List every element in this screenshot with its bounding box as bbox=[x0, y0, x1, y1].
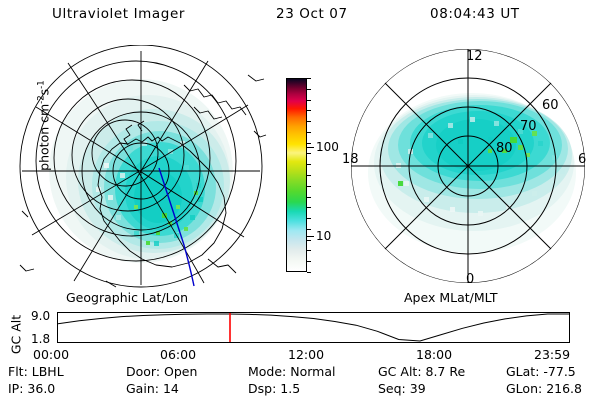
status-label: GC Alt: bbox=[378, 364, 426, 379]
status-value: 14 bbox=[163, 381, 179, 396]
status-row: Flt: LBHLDoor: OpenMode: NormalGC Alt: 8… bbox=[8, 364, 596, 381]
status-value: 8.7 Re bbox=[426, 364, 466, 379]
orbit-alt-min-label: 1.8 bbox=[31, 332, 50, 346]
time-tick-0: 00:00 bbox=[33, 347, 69, 362]
status-value: Open bbox=[164, 364, 197, 379]
status-table: Flt: LBHLDoor: OpenMode: NormalGC Alt: 8… bbox=[8, 364, 596, 398]
mlt-spokes bbox=[351, 49, 585, 283]
status-row: IP: 36.0Gain: 14Dsp: 1.5Seq: 39GLon: 216… bbox=[8, 381, 596, 398]
status-value: 39 bbox=[410, 381, 426, 396]
status-cell-flt: Flt: LBHL bbox=[8, 364, 126, 381]
mlt-label-6: 6 bbox=[578, 152, 586, 167]
right-panel-caption: Apex MLat/MLT bbox=[404, 290, 498, 305]
status-cell-mode: Mode: Normal bbox=[248, 364, 378, 381]
page-title: Ultraviolet Imager bbox=[52, 6, 185, 22]
colorbar-unit-mid: s bbox=[37, 89, 52, 96]
status-cell-ip: IP: 36.0 bbox=[8, 381, 126, 398]
status-value: 216.8 bbox=[546, 381, 582, 396]
colorbar-unit-exp1: -2 bbox=[36, 95, 46, 103]
status-cell-door: Door: Open bbox=[126, 364, 248, 381]
colorbar-tick-label-upper: 100 bbox=[316, 140, 339, 154]
time-tick-4: 23:59 bbox=[534, 347, 570, 362]
colorbar-unit-main: photon cm bbox=[37, 104, 52, 171]
status-label: Flt: bbox=[8, 364, 32, 379]
status-label: Seq: bbox=[378, 381, 410, 396]
orbit-alt-max-label: 9.0 bbox=[31, 309, 50, 323]
mlat-label-80: 80 bbox=[496, 141, 513, 156]
status-label: Mode: bbox=[248, 364, 290, 379]
time-tick-3: 18:00 bbox=[416, 347, 452, 362]
status-label: Door: bbox=[126, 364, 164, 379]
colorbar-tick-label-lower: 10 bbox=[316, 229, 331, 243]
aurora-emission-apex bbox=[368, 93, 576, 253]
status-cell-glon: GLon: 216.8 bbox=[506, 381, 596, 398]
observation-date: 23 Oct 07 bbox=[276, 6, 348, 22]
mlat-label-70: 70 bbox=[520, 119, 537, 134]
mlt-label-0: 0 bbox=[466, 272, 474, 287]
mlat-label-60: 60 bbox=[542, 98, 559, 113]
colorbar bbox=[286, 78, 307, 272]
status-cell-seq: Seq: 39 bbox=[378, 381, 506, 398]
status-cell-gain: Gain: 14 bbox=[126, 381, 248, 398]
status-value: 1.5 bbox=[280, 381, 300, 396]
orbit-altitude-trace bbox=[58, 313, 569, 342]
observation-time: 08:04:43 UT bbox=[430, 6, 520, 22]
status-value: 36.0 bbox=[27, 381, 55, 396]
colorbar-gradient bbox=[287, 79, 306, 271]
status-label: Dsp: bbox=[248, 381, 280, 396]
status-value: LBHL bbox=[32, 364, 64, 379]
status-label: GLon: bbox=[506, 381, 546, 396]
status-label: GLat: bbox=[506, 364, 543, 379]
status-cell-dsp: Dsp: 1.5 bbox=[248, 381, 378, 398]
time-tick-1: 06:00 bbox=[160, 347, 196, 362]
status-value: Normal bbox=[290, 364, 335, 379]
mlt-label-12: 12 bbox=[466, 49, 483, 64]
mlt-label-18: 18 bbox=[342, 152, 359, 167]
status-cell-gc-alt: GC Alt: 8.7 Re bbox=[378, 364, 506, 381]
left-panel-caption: Geographic Lat/Lon bbox=[66, 290, 188, 305]
orbit-axis-title: GC Alt bbox=[9, 307, 24, 363]
uvi-summary-plot: Ultraviolet Imager 23 Oct 07 08:04:43 UT bbox=[0, 0, 600, 400]
status-value: -77.5 bbox=[543, 364, 575, 379]
status-cell-glat: GLat: -77.5 bbox=[506, 364, 596, 381]
colorbar-axis-title: photon cm-2s-1 bbox=[36, 56, 51, 196]
status-label: IP: bbox=[8, 381, 27, 396]
orbit-altitude-plot[interactable] bbox=[57, 312, 570, 343]
colorbar-ticks bbox=[307, 78, 314, 272]
apex-polar-plot: 12 18 6 0 60 70 80 bbox=[338, 45, 600, 290]
status-footer: Flt: LBHLDoor: OpenMode: NormalGC Alt: 8… bbox=[8, 364, 596, 398]
colorbar-unit-exp2: -1 bbox=[36, 80, 46, 88]
status-label: Gain: bbox=[126, 381, 163, 396]
time-tick-2: 12:00 bbox=[288, 347, 324, 362]
